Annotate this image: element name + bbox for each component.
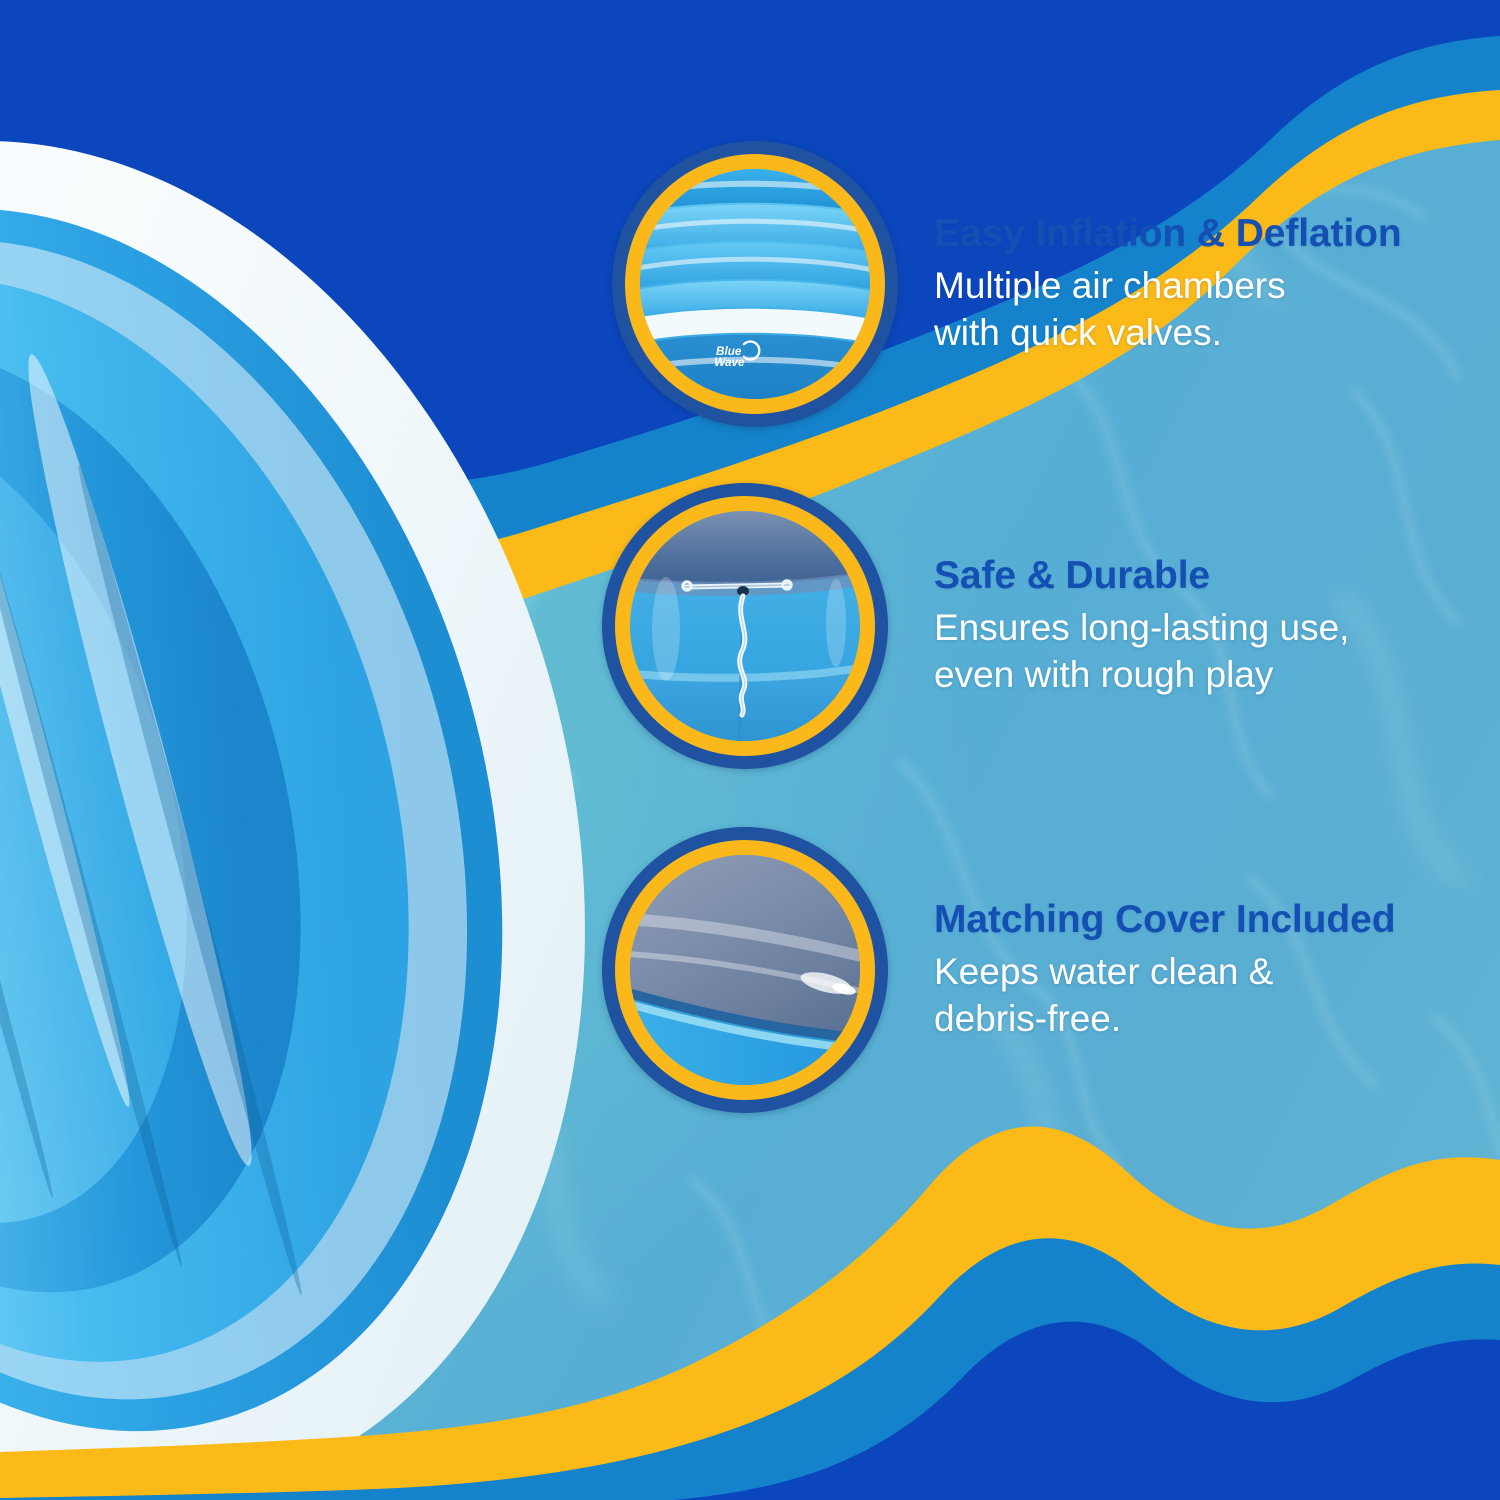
feature-row-safe-durable: Safe & Durable Ensures long-lasting use,… [602, 483, 1464, 769]
feature-badge-matching-cover[interactable] [602, 827, 888, 1113]
feature-desc-line: Keeps water clean & [934, 949, 1464, 996]
feature-badge-safe-durable[interactable] [602, 483, 888, 769]
badge-photo-pool-air-chambers: Blue Wave [640, 169, 870, 399]
feature-text-safe-durable: Safe & Durable Ensures long-lasting use,… [934, 554, 1464, 699]
feature-description: Ensures long-lasting use, even with roug… [934, 605, 1464, 698]
feature-text-easy-inflation: Easy Inflation & Deflation Multiple air … [934, 212, 1464, 357]
feature-badge-easy-inflation[interactable]: Blue Wave [612, 141, 898, 427]
feature-desc-line: Multiple air chambers [934, 263, 1464, 310]
inflatable-pool-product-photo [0, 120, 650, 1500]
feature-desc-line: Ensures long-lasting use, [934, 605, 1464, 652]
feature-desc-line: with quick valves. [934, 310, 1464, 357]
feature-title: Easy Inflation & Deflation [934, 212, 1464, 256]
feature-title: Safe & Durable [934, 554, 1464, 598]
svg-text:Wave: Wave [714, 356, 745, 369]
feature-row-easy-inflation: Blue Wave Easy Inflation & Deflation Mul… [612, 141, 1464, 427]
badge-photo-pool-cover [630, 855, 860, 1085]
feature-text-matching-cover: Matching Cover Included Keeps water clea… [934, 898, 1464, 1043]
feature-row-matching-cover: Matching Cover Included Keeps water clea… [602, 827, 1464, 1113]
feature-description: Keeps water clean & debris-free. [934, 949, 1464, 1042]
product-feature-infographic: Blue Wave Easy Inflation & Deflation Mul… [0, 0, 1500, 1500]
badge-photo-pool-drain-valve [630, 511, 860, 741]
feature-desc-line: even with rough play [934, 652, 1464, 699]
feature-description: Multiple air chambers with quick valves. [934, 263, 1464, 356]
feature-desc-line: debris-free. [934, 996, 1464, 1043]
feature-title: Matching Cover Included [934, 898, 1464, 942]
